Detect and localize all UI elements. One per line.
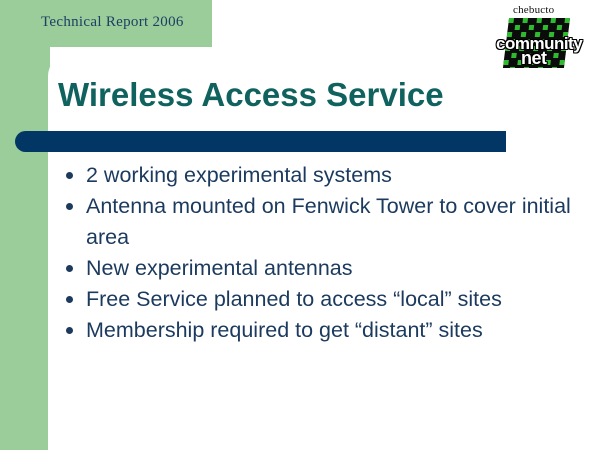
list-item: 2 working experimental systems: [62, 160, 572, 191]
list-item: Antenna mounted on Fenwick Tower to cove…: [62, 191, 572, 253]
report-header-label: Technical Report 2006: [41, 14, 184, 31]
list-item: Membership required to get “distant” sit…: [62, 315, 572, 346]
chebucto-community-net-logo: chebucto community net: [495, 4, 581, 70]
list-item-label: 2 working experimental systems: [86, 163, 392, 187]
bullet-dot-icon: [66, 172, 73, 179]
logo-line-net: net: [521, 48, 547, 69]
bullet-dot-icon: [66, 327, 73, 334]
list-item-label: Free Service planned to access “local” s…: [86, 287, 502, 311]
title-underline-bar: [15, 131, 506, 152]
bullet-dot-icon: [66, 265, 73, 272]
logo-line-chebucto: chebucto: [513, 4, 554, 16]
bullet-dot-icon: [66, 296, 73, 303]
list-item-label: Antenna mounted on Fenwick Tower to cove…: [86, 194, 571, 249]
page-title: Wireless Access Service: [58, 76, 444, 114]
list-item: New experimental antennas: [62, 253, 572, 284]
bullet-dot-icon: [66, 203, 73, 210]
green-sidebar-stripe: [0, 0, 50, 450]
bullet-list: 2 working experimental systems Antenna m…: [62, 160, 572, 346]
list-item-label: Membership required to get “distant” sit…: [86, 318, 483, 342]
slide-canvas: Technical Report 2006 Wireless Access Se…: [0, 0, 600, 450]
list-item-label: New experimental antennas: [86, 256, 353, 280]
list-item: Free Service planned to access “local” s…: [62, 284, 572, 315]
